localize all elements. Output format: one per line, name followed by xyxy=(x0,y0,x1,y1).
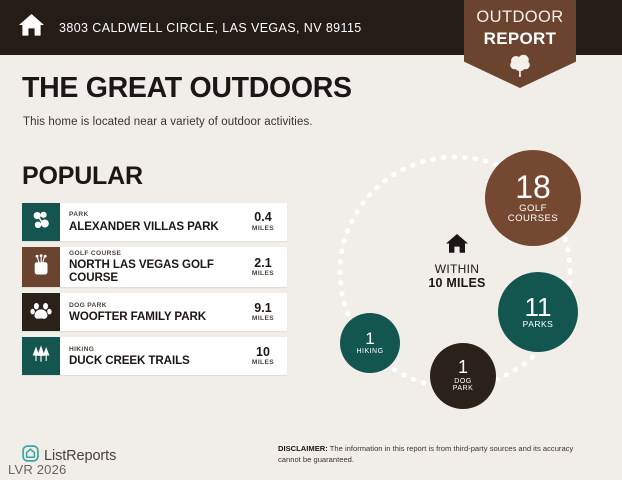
list-item-category: GOLF COURSE xyxy=(69,250,240,258)
center-label-distance: 10 MILES xyxy=(397,276,517,291)
lvr-label: LVR 2026 xyxy=(8,462,66,477)
list-item-distance: 9.1 MILES xyxy=(246,302,280,323)
page-subtitle: This home is located near a variety of o… xyxy=(23,116,313,128)
page-title: THE GREAT OUTDOORS xyxy=(22,72,352,105)
distance-value: 2.1 xyxy=(246,257,280,270)
popular-list: PARK ALEXANDER VILLAS PARK 0.4 MILES xyxy=(22,203,287,381)
list-item-name: NORTH LAS VEGAS GOLF COURSE xyxy=(69,258,240,284)
list-item[interactable]: GOLF COURSE NORTH LAS VEGAS GOLF COURSE … xyxy=(22,247,287,287)
golf-bag-icon xyxy=(29,253,53,282)
badge-line-1: OUTDOOR xyxy=(464,9,576,26)
list-item[interactable]: PARK ALEXANDER VILLAS PARK 0.4 MILES xyxy=(22,203,287,241)
disclaimer-label: DISCLAIMER: xyxy=(278,444,328,453)
tree-icon xyxy=(464,52,576,83)
distance-unit: MILES xyxy=(246,270,280,278)
pine-trees-icon xyxy=(29,342,53,371)
list-item-name: WOOFTER FAMILY PARK xyxy=(69,310,206,323)
list-item[interactable]: HIKING DUCK CREEK TRAILS 10 MILES xyxy=(22,337,287,375)
bubble-count: 1 xyxy=(365,331,374,347)
distance-value: 10 xyxy=(246,346,280,359)
badge-line-2: REPORT xyxy=(464,30,576,47)
bubble-label-line2: COURSES xyxy=(508,214,558,224)
list-item-category: PARK xyxy=(69,211,219,219)
list-item-icon-tile xyxy=(22,203,60,241)
distance-value: 9.1 xyxy=(246,302,280,315)
list-item-distance: 2.1 MILES xyxy=(246,257,280,278)
list-item-body: DOG PARK WOOFTER FAMILY PARK 9.1 MILES xyxy=(60,293,287,331)
list-item[interactable]: DOG PARK WOOFTER FAMILY PARK 9.1 MILES xyxy=(22,293,287,331)
list-item-icon-tile xyxy=(22,293,60,331)
list-item-distance: 10 MILES xyxy=(246,346,280,367)
list-item-category: HIKING xyxy=(69,346,190,354)
outdoor-report-page: 3803 CALDWELL CIRCLE, LAS VEGAS, NV 8911… xyxy=(0,0,622,480)
outdoor-report-badge: OUTDOOR REPORT xyxy=(464,0,576,88)
list-item-category: DOG PARK xyxy=(69,302,206,310)
section-title-popular: POPULAR xyxy=(22,162,143,191)
list-item-name: ALEXANDER VILLAS PARK xyxy=(69,220,219,233)
bubble-label-line1: PARKS xyxy=(523,320,554,329)
within-10-miles-diagram: WITHIN 10 MILES 18 GOLF COURSES 11 PARKS… xyxy=(318,138,608,423)
distance-value: 0.4 xyxy=(246,211,280,224)
list-item-body: HIKING DUCK CREEK TRAILS 10 MILES xyxy=(60,337,287,375)
distance-unit: MILES xyxy=(246,359,280,367)
bubble-count: 18 xyxy=(515,172,551,202)
list-item-body: PARK ALEXANDER VILLAS PARK 0.4 MILES xyxy=(60,203,287,241)
park-trees-icon xyxy=(29,208,53,237)
list-item-name: DUCK CREEK TRAILS xyxy=(69,354,190,367)
bubble-parks[interactable]: 11 PARKS xyxy=(498,272,578,352)
paw-print-icon xyxy=(29,298,53,327)
distance-unit: MILES xyxy=(246,315,280,323)
bubble-dog-park[interactable]: 1 DOG PARK xyxy=(430,343,496,409)
bubble-count: 11 xyxy=(525,295,552,320)
bubble-count: 1 xyxy=(458,359,468,376)
bubble-label-line1: DOG xyxy=(454,378,471,386)
list-item-distance: 0.4 MILES xyxy=(246,211,280,232)
list-item-icon-tile xyxy=(22,337,60,375)
center-label-within: WITHIN xyxy=(397,262,517,276)
list-item-icon-tile xyxy=(22,247,60,287)
property-address: 3803 CALDWELL CIRCLE, LAS VEGAS, NV 8911… xyxy=(59,21,362,35)
bubble-hiking[interactable]: 1 HIKING xyxy=(340,313,400,373)
diagram-center: WITHIN 10 MILES xyxy=(397,233,517,291)
disclaimer: DISCLAIMER: The information in this repo… xyxy=(278,443,598,466)
house-icon xyxy=(445,241,469,258)
house-icon xyxy=(18,13,45,42)
list-item-body: GOLF COURSE NORTH LAS VEGAS GOLF COURSE … xyxy=(60,247,287,287)
bubble-golf-courses[interactable]: 18 GOLF COURSES xyxy=(485,150,581,246)
distance-unit: MILES xyxy=(246,225,280,233)
bubble-label-line1: HIKING xyxy=(356,348,383,356)
bubble-label-line2: PARK xyxy=(453,385,474,393)
